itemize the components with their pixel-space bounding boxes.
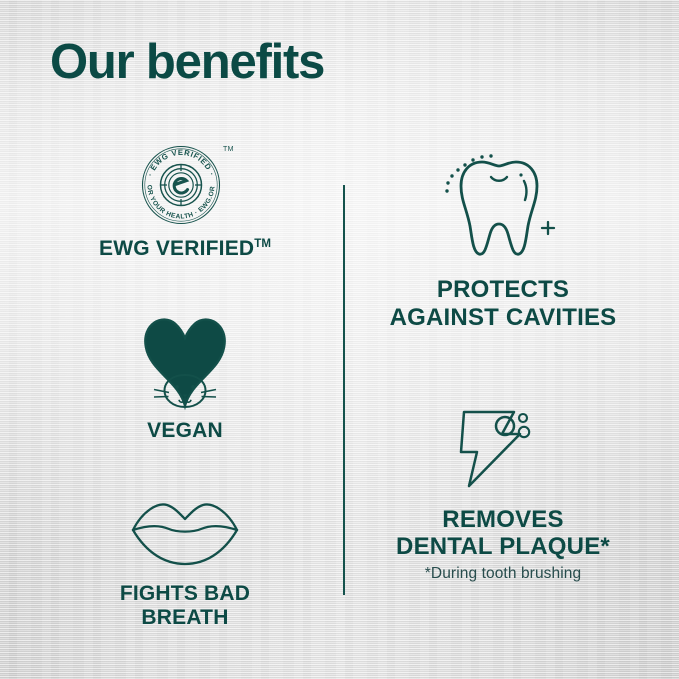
svg-text:TM: TM bbox=[223, 146, 234, 153]
bunny-heart-ears-icon bbox=[129, 307, 241, 411]
column-divider bbox=[343, 185, 345, 595]
benefit-protects-against-cavities: PROTECTS AGAINST CAVITIES bbox=[358, 150, 648, 332]
benefit-label-ewg-verified: EWG VERIFIEDTM bbox=[99, 237, 271, 261]
svg-text:· FOR YOUR HEALTH · EWG.ORG ·: · FOR YOUR HEALTH · EWG.ORG · bbox=[128, 130, 216, 221]
benefit-label-protects-against-cavities: PROTECTS AGAINST CAVITIES bbox=[390, 276, 617, 332]
benefit-removes-dental-plaque: REMOVES DENTAL PLAQUE* *During tooth bru… bbox=[358, 404, 648, 584]
benefit-label-text: EWG VERIFIED bbox=[99, 237, 254, 260]
ewg-verified-seal-icon: · EWG VERIFIED · · FOR YOUR HEALTH · EWG… bbox=[131, 135, 239, 231]
benefit-label-line: AGAINST CAVITIES bbox=[390, 304, 617, 332]
benefits-infographic: Our benefits · EWG VERIFIED · bbox=[0, 0, 679, 679]
left-benefits-column: · EWG VERIFIED · · FOR YOUR HEALTH · EWG… bbox=[40, 135, 330, 630]
benefit-label-line: REMOVES bbox=[396, 506, 610, 534]
benefit-label-fights-bad-breath: FIGHTS BAD BREATH bbox=[120, 582, 250, 631]
benefit-label-line: DENTAL PLAQUE* bbox=[396, 533, 610, 561]
benefit-label-line: PROTECTS bbox=[390, 276, 617, 304]
lips-icon bbox=[124, 492, 246, 568]
page-title: Our benefits bbox=[50, 36, 324, 90]
trademark-superscript: TM bbox=[254, 238, 271, 250]
benefit-label-line: FIGHTS BAD bbox=[120, 582, 250, 606]
benefit-label-line: BREATH bbox=[120, 606, 250, 630]
sparkling-tooth-icon bbox=[438, 150, 568, 262]
lightning-bolt-bubbles-icon bbox=[448, 404, 558, 490]
benefit-vegan: VEGAN bbox=[40, 307, 330, 443]
right-benefits-column: PROTECTS AGAINST CAVITIES REMOVES DENTAL… bbox=[358, 150, 648, 583]
benefit-ewg-verified: · EWG VERIFIED · · FOR YOUR HEALTH · EWG… bbox=[40, 135, 330, 261]
benefit-fights-bad-breath: FIGHTS BAD BREATH bbox=[40, 492, 330, 631]
benefit-label-vegan: VEGAN bbox=[147, 419, 223, 443]
benefit-label-removes-dental-plaque: REMOVES DENTAL PLAQUE* bbox=[396, 506, 610, 562]
benefit-footnote-removes-dental-plaque: *During tooth brushing bbox=[425, 565, 581, 583]
